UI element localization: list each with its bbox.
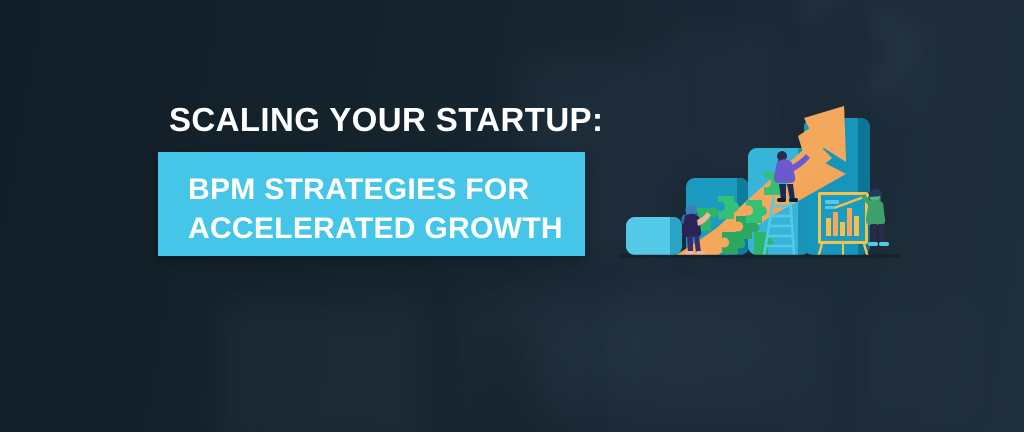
- bg-rect-6: [860, 300, 980, 420]
- subtitle-line-1: BPM STRATEGIES FOR: [188, 170, 563, 209]
- subtitle-text: BPM STRATEGIES FOR ACCELERATED GROWTH: [188, 170, 563, 248]
- subtitle-line-2: ACCELERATED GROWTH: [188, 209, 563, 248]
- bg-arrow-icon: [794, 0, 909, 23]
- growth-illustration: [618, 100, 900, 260]
- illustration-baseline: [618, 254, 900, 258]
- subtitle-highlight-box: BPM STRATEGIES FOR ACCELERATED GROWTH: [158, 152, 585, 256]
- bg-rect-7: [480, 330, 540, 420]
- bg-rect-3: [215, 300, 425, 432]
- bg-arrow-head-icon: [824, 2, 923, 101]
- bg-soft-glow: [440, 250, 860, 432]
- promo-banner: SCALING YOUR STARTUP: BPM STRATEGIES FOR…: [0, 0, 1024, 432]
- bg-rect-4: [455, 295, 585, 425]
- page-title: SCALING YOUR STARTUP:: [169, 101, 603, 139]
- illustration-art: [618, 100, 900, 260]
- bg-rect-5: [600, 285, 830, 432]
